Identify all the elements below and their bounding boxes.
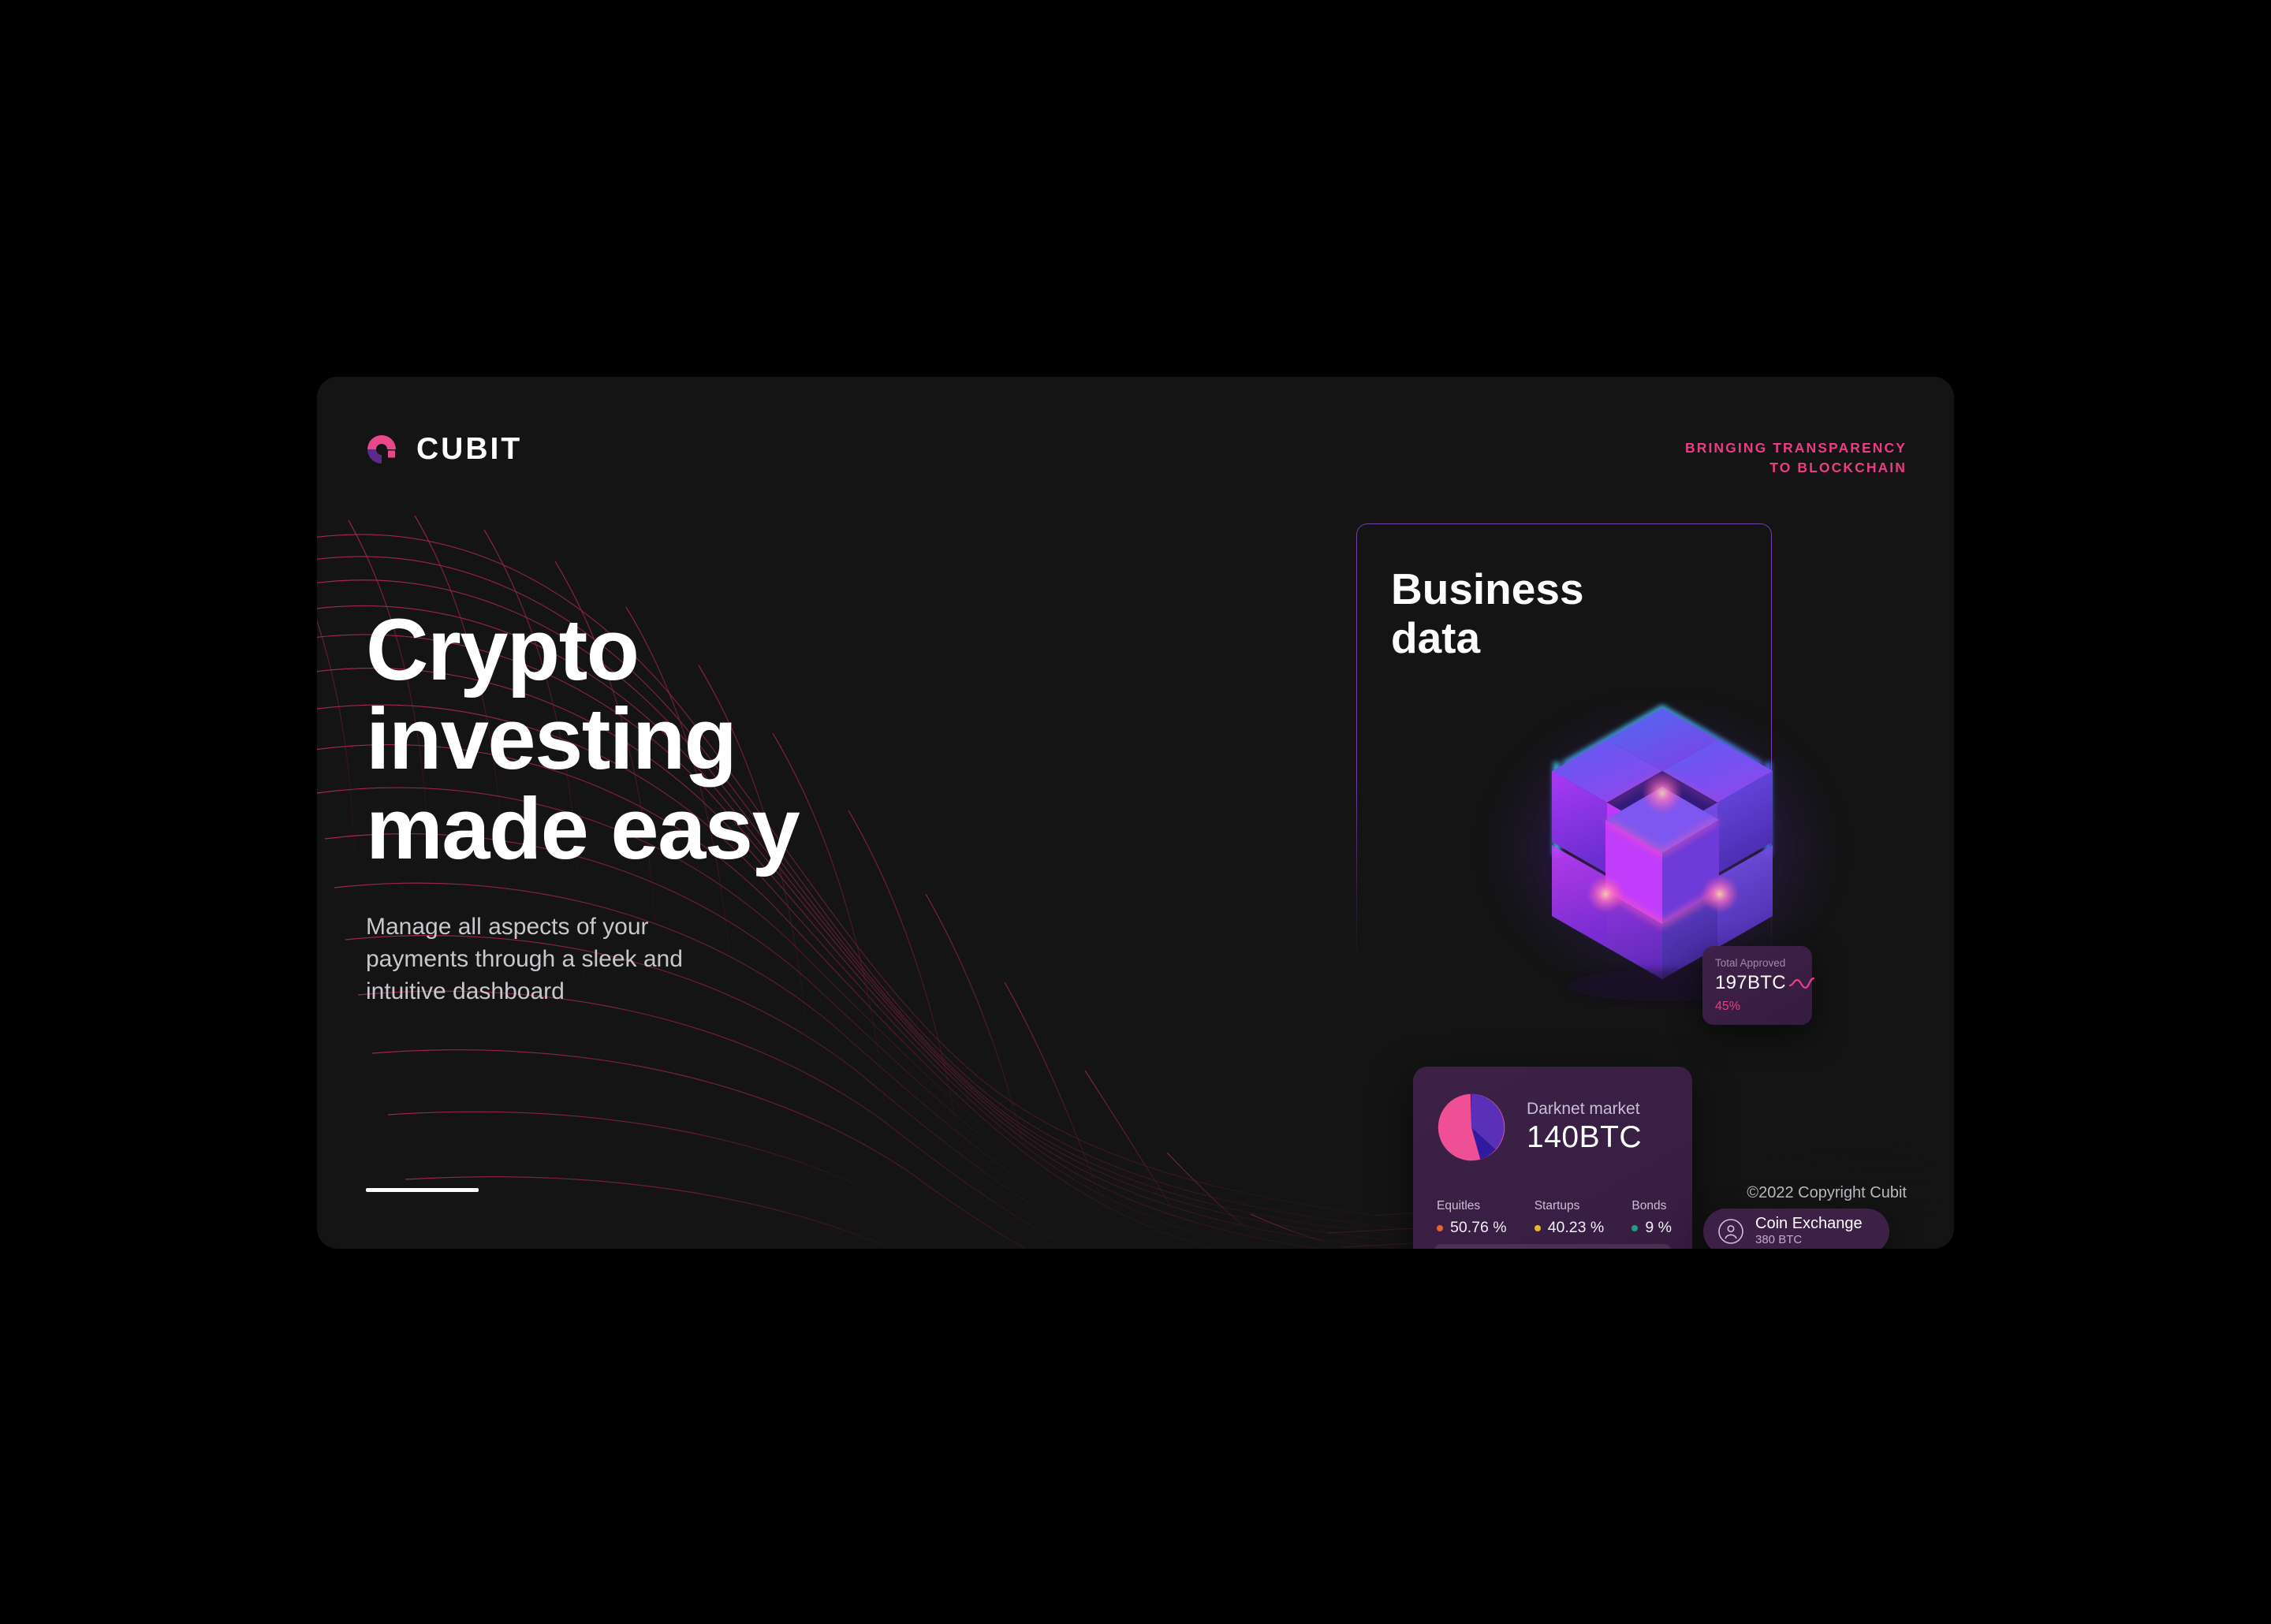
darknet-market-card[interactable]: Darknet market 140BTC Equitles 50.76 % S…	[1413, 1067, 1692, 1249]
brand-logo[interactable]: CUBIT	[364, 432, 522, 467]
pie-legend: Equitles 50.76 % Startups 40.23 % Bonds	[1437, 1199, 1672, 1237]
screenshot-stage: CUBIT BRINGING TRANSPARENCY TO BLOCKCHAI…	[0, 0, 2271, 1624]
legend-item: Bonds 9 %	[1631, 1199, 1672, 1237]
legend-dot-icon	[1437, 1225, 1443, 1231]
total-approved-card[interactable]: Total Approved 197BTC 45%	[1702, 946, 1812, 1025]
divider-rule	[366, 1188, 479, 1192]
coin-exchange-title: Coin Exchange	[1755, 1215, 1863, 1233]
legend-item: Equitles 50.76 %	[1437, 1199, 1507, 1237]
darknet-label: Darknet market	[1527, 1100, 1642, 1119]
hero-card: CUBIT BRINGING TRANSPARENCY TO BLOCKCHAI…	[317, 377, 1954, 1249]
legend-item: Startups 40.23 %	[1535, 1199, 1605, 1237]
sparkline-wave-icon	[1789, 975, 1814, 991]
legend-value: 50.76 %	[1450, 1219, 1507, 1237]
legend-dot-icon	[1535, 1225, 1541, 1231]
tagline-line-1: BRINGING TRANSPARENCY	[1685, 438, 1907, 458]
page-subtitle: Manage all aspects of your payments thro…	[366, 911, 683, 1008]
pie-chart	[1437, 1093, 1506, 1162]
business-data-title: Business data	[1391, 564, 1584, 662]
coin-exchange-subtitle: 380 BTC	[1755, 1233, 1863, 1248]
legend-value: 9 %	[1645, 1219, 1672, 1237]
total-approved-value: 197BTC	[1715, 972, 1786, 994]
legend-name: Bonds	[1631, 1199, 1672, 1213]
coin-exchange-text: Coin Exchange 380 BTC	[1755, 1215, 1863, 1248]
user-circle-icon	[1717, 1218, 1744, 1245]
total-approved-label: Total Approved	[1715, 957, 1785, 969]
brand-name: CUBIT	[416, 432, 522, 467]
page-title: Crypto investing made easy	[366, 605, 799, 873]
legend-dot-icon	[1631, 1225, 1638, 1231]
cubit-arc-logo-icon	[364, 432, 399, 467]
legend-name: Equitles	[1437, 1199, 1507, 1213]
darknet-card-values: Darknet market 140BTC	[1527, 1100, 1642, 1155]
total-approved-value-row: 197BTC	[1715, 972, 1814, 994]
tagline-line-2: TO BLOCKCHAIN	[1685, 458, 1907, 478]
copyright-text: ©2022 Copyright Cubit	[1747, 1184, 1907, 1202]
coin-exchange-pill[interactable]: Coin Exchange 380 BTC	[1703, 1209, 1889, 1249]
legend-name: Startups	[1535, 1199, 1605, 1213]
darknet-value: 140BTC	[1527, 1120, 1642, 1155]
legend-value: 40.23 %	[1548, 1219, 1605, 1237]
darknet-card-header: Darknet market 140BTC	[1437, 1093, 1642, 1162]
alert-button[interactable]	[1434, 1244, 1672, 1249]
total-approved-percent: 45%	[1715, 1000, 1740, 1014]
tagline: BRINGING TRANSPARENCY TO BLOCKCHAIN	[1685, 438, 1907, 479]
